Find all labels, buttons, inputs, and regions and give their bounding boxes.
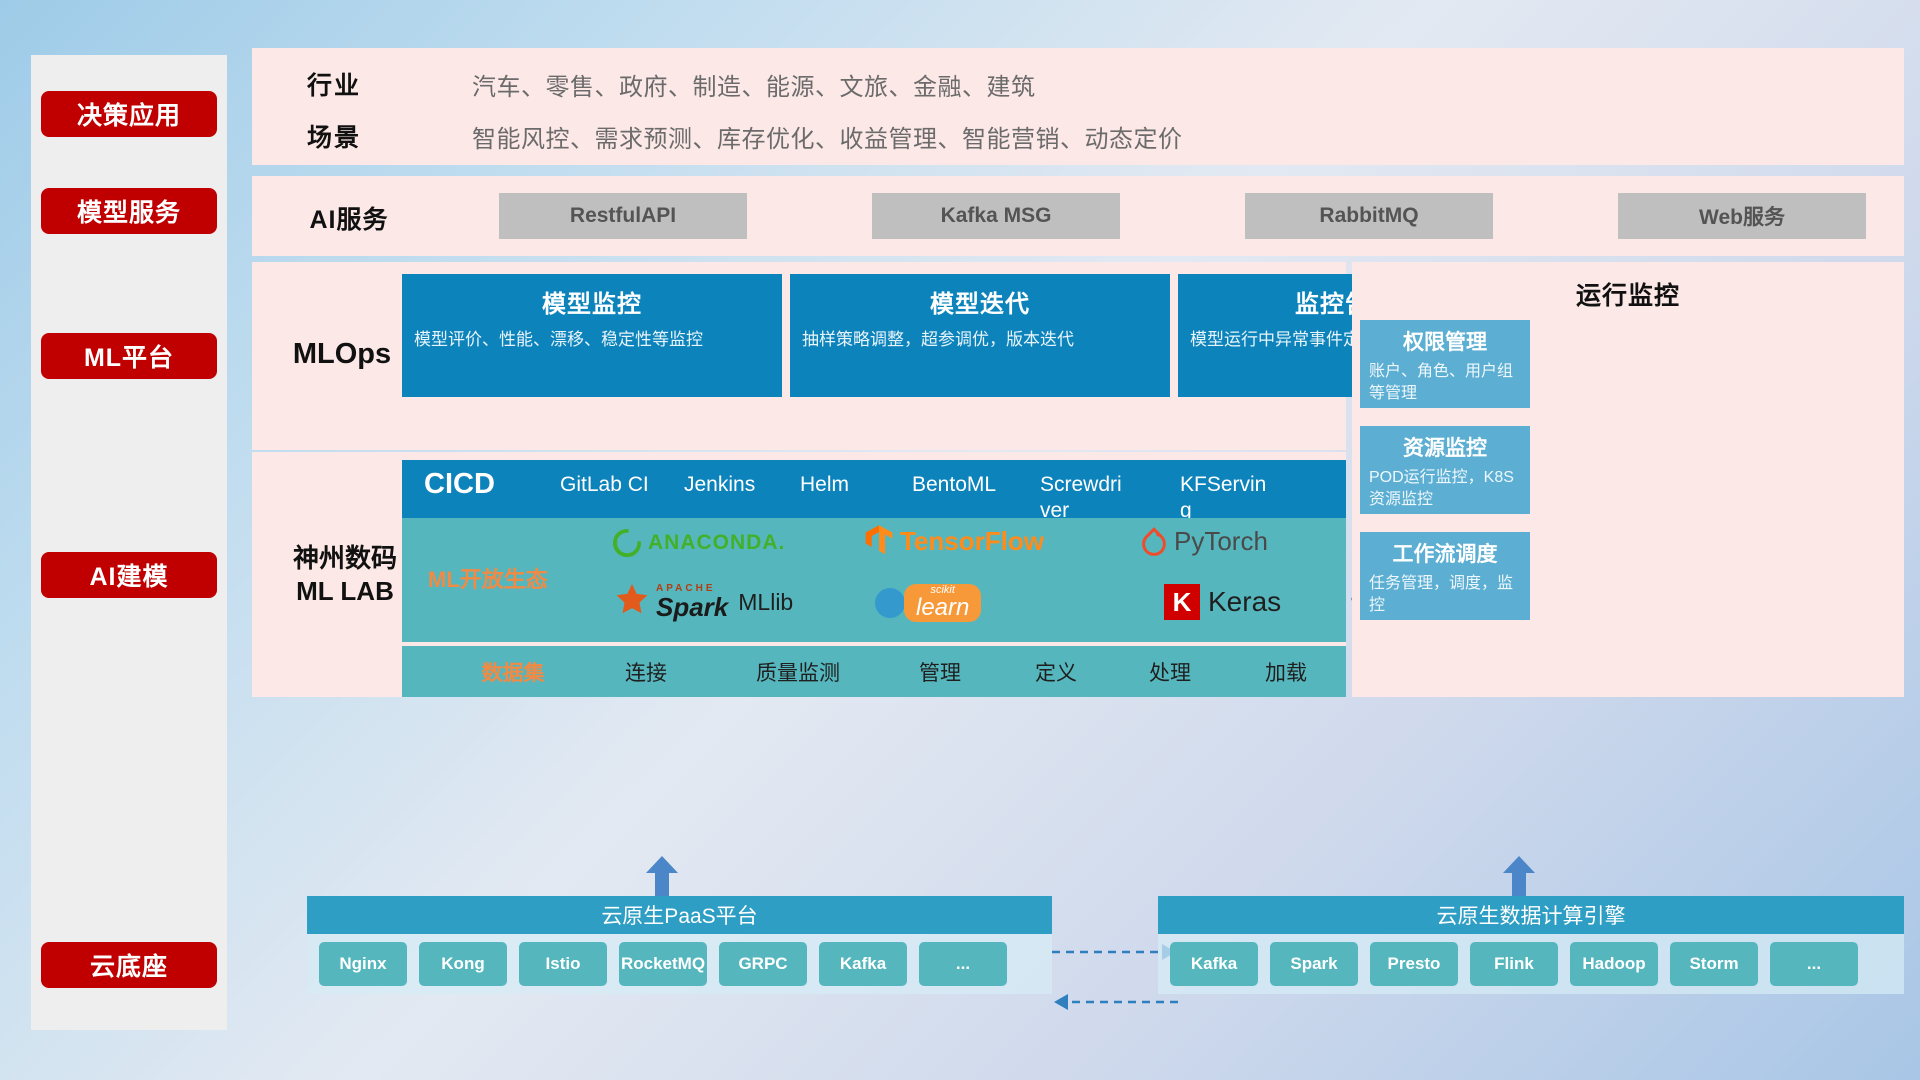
chip-label: Kong — [441, 955, 484, 974]
tensorflow-mark-icon — [864, 524, 894, 558]
card-desc: POD运行监控，K8S资源监控 — [1369, 467, 1521, 510]
chip-label: RocketMQ — [621, 955, 705, 974]
layer-label: 云底座 — [90, 947, 168, 983]
layer-chip-model-service[interactable]: 模型服务 — [41, 188, 217, 234]
cloud-chip-istio[interactable]: Istio — [519, 942, 607, 986]
dataset-item-load[interactable]: 加载 — [1240, 657, 1332, 687]
cloud-chip-more[interactable]: ... — [1770, 942, 1858, 986]
keras-wordmark: Keras — [1208, 586, 1281, 618]
ml-open-ecosystem-band: ML开放生态 ANACONDA. TensorFlow PyTorch — [402, 518, 1346, 642]
cloud-chip-kafka[interactable]: Kafka — [819, 942, 907, 986]
spark-mark-icon — [610, 580, 654, 624]
chip-label: Istio — [546, 955, 581, 974]
cloud-chip-grpc[interactable]: GRPC — [719, 942, 807, 986]
card-desc: 任务管理，调度，监控 — [1369, 573, 1521, 616]
card-desc: 模型评价、性能、漂移、稳定性等监控 — [414, 329, 770, 352]
card-desc: 账户、角色、用户组等管理 — [1369, 361, 1521, 404]
spark-wordmark: Spark — [656, 594, 728, 620]
cicd-item-label: Jenkins — [684, 473, 755, 496]
keras-mark-icon: K — [1164, 584, 1200, 620]
card-title: 资源监控 — [1369, 432, 1521, 462]
cloud-group-paas: 云原生PaaS平台 Nginx Kong Istio RocketMQ GRPC… — [307, 896, 1052, 994]
chip-label: Storm — [1689, 955, 1738, 974]
cicd-label: CICD — [424, 468, 495, 501]
dataset-item-manage[interactable]: 管理 — [894, 657, 986, 687]
cloud-chip-nginx[interactable]: Nginx — [319, 942, 407, 986]
runtime-card-permission-management[interactable]: 权限管理 账户、角色、用户组等管理 — [1360, 320, 1530, 408]
chip-label: Nginx — [339, 955, 386, 974]
up-arrow-data-engine-icon — [1502, 856, 1536, 900]
cicd-item-label: KFServing — [1180, 473, 1266, 518]
cloud-chip-storm[interactable]: Storm — [1670, 942, 1758, 986]
runtime-monitoring-panel: 运行监控 权限管理 账户、角色、用户组等管理 资源监控 POD运行监控，K8S资… — [1352, 262, 1904, 697]
scikit-learn-mark-icon — [872, 585, 908, 621]
cicd-item-kfserving[interactable]: KFServing — [1180, 472, 1272, 518]
layer-label: 模型服务 — [77, 193, 181, 229]
cloud-group-title: 云原生数据计算引擎 — [1158, 896, 1904, 934]
scikit-learn-wordmark: learn — [916, 596, 969, 620]
keras-logo: K Keras — [1164, 584, 1281, 620]
cicd-item-jenkins[interactable]: Jenkins — [684, 472, 776, 498]
dataset-item-connect[interactable]: 连接 — [600, 657, 692, 687]
decision-row-key: 场景 — [274, 118, 394, 154]
mlops-title: MLOps — [262, 338, 422, 371]
cicd-strip: CICD GitLab CI Jenkins Helm BentoML Scre… — [402, 460, 1346, 518]
cicd-item-label: BentoML — [912, 473, 996, 496]
ai-service-chip-web-service[interactable]: Web服务 — [1618, 193, 1866, 239]
anaconda-wordmark: ANACONDA. — [648, 531, 785, 555]
pytorch-mark-icon — [1140, 527, 1168, 557]
cloud-chip-kong[interactable]: Kong — [419, 942, 507, 986]
chip-label: Spark — [1290, 955, 1337, 974]
cloud-chip-hadoop[interactable]: Hadoop — [1570, 942, 1658, 986]
ai-service-title: AI服务 — [274, 200, 424, 236]
card-title: 工作流调度 — [1369, 538, 1521, 568]
mlops-card-model-monitoring[interactable]: 模型监控 模型评价、性能、漂移、稳定性等监控 — [402, 274, 782, 397]
chip-label: RestfulAPI — [570, 204, 676, 228]
cicd-item-label: GitLab CI — [560, 473, 649, 496]
up-arrow-paas-icon — [645, 856, 679, 900]
dataset-item-quality[interactable]: 质量监测 — [732, 657, 864, 687]
cicd-item-screwdriver[interactable]: Screwdriver — [1040, 472, 1132, 518]
mllib-wordmark: MLlib — [738, 589, 793, 616]
ai-service-chip-kafka-msg[interactable]: Kafka MSG — [872, 193, 1120, 239]
chip-label: Web服务 — [1699, 201, 1785, 231]
chip-label: GRPC — [738, 955, 787, 974]
cicd-item-helm[interactable]: Helm — [800, 472, 892, 498]
cicd-item-label: Helm — [800, 473, 849, 496]
chip-label: Hadoop — [1582, 955, 1645, 974]
layer-chip-cloud-base[interactable]: 云底座 — [41, 942, 217, 988]
decision-application-panel: 行业 汽车、零售、政府、制造、能源、文旅、金融、建筑 场景 智能风控、需求预测、… — [252, 48, 1904, 165]
layer-label: 决策应用 — [77, 96, 181, 132]
dataset-item-process[interactable]: 处理 — [1124, 657, 1216, 687]
spark-mllib-logo: APACHE Spark MLlib — [610, 580, 793, 624]
ai-service-chip-restfulapi[interactable]: RestfulAPI — [499, 193, 747, 239]
scikit-learn-logo: scikit learn — [872, 584, 981, 622]
decision-row-scenario: 场景 智能风控、需求预测、库存优化、收益管理、智能营销、动态定价 — [274, 118, 1183, 154]
cloud-group-title: 云原生PaaS平台 — [307, 896, 1052, 934]
layer-chip-ml-platform[interactable]: ML平台 — [41, 333, 217, 379]
decision-row-industry: 行业 汽车、零售、政府、制造、能源、文旅、金融、建筑 — [274, 66, 1036, 102]
dataset-label: 数据集 — [458, 657, 568, 687]
layer-label: ML平台 — [84, 338, 174, 374]
mlops-panel: MLOps 模型监控 模型评价、性能、漂移、稳定性等监控 模型迭代 抽样策略调整… — [252, 262, 1346, 450]
chip-label: ... — [1807, 955, 1821, 974]
layer-chip-decision-app[interactable]: 决策应用 — [41, 91, 217, 137]
runtime-card-resource-monitoring[interactable]: 资源监控 POD运行监控，K8S资源监控 — [1360, 426, 1530, 514]
pytorch-wordmark: PyTorch — [1174, 526, 1268, 557]
cloud-chip-presto[interactable]: Presto — [1370, 942, 1458, 986]
anaconda-logo: ANACONDA. — [612, 528, 785, 558]
anaconda-mark-icon — [612, 528, 642, 558]
chip-label: Kafka — [840, 955, 886, 974]
ai-service-chip-rabbitmq[interactable]: RabbitMQ — [1245, 193, 1493, 239]
chip-label: ... — [956, 955, 970, 974]
ml-open-ecosystem-label: ML开放生态 — [428, 562, 548, 594]
chip-label: Flink — [1494, 955, 1534, 974]
decision-row-value: 智能风控、需求预测、库存优化、收益管理、智能营销、动态定价 — [472, 119, 1183, 154]
cicd-item-gitlab-ci[interactable]: GitLab CI — [560, 472, 652, 498]
layer-chip-ai-modeling[interactable]: AI建模 — [41, 552, 217, 598]
dataset-strip: 数据集 连接 质量监测 管理 定义 处理 加载 — [402, 646, 1346, 697]
dataset-item-define[interactable]: 定义 — [1010, 657, 1102, 687]
mlops-card-model-iteration[interactable]: 模型迭代 抽样策略调整，超参调优，版本迭代 — [790, 274, 1170, 397]
ai-service-panel: AI服务 RestfulAPI Kafka MSG RabbitMQ Web服务 — [252, 176, 1904, 256]
cloud-group-data-engine: 云原生数据计算引擎 Kafka Spark Presto Flink Hadoo… — [1158, 896, 1904, 994]
cicd-item-label: Screwdriver — [1040, 473, 1122, 518]
keras-mark-letter: K — [1173, 587, 1192, 618]
chip-label: Kafka MSG — [941, 204, 1052, 228]
cloud-group-body: Kafka Spark Presto Flink Hadoop Storm ..… — [1158, 934, 1904, 994]
cloud-chip-flink[interactable]: Flink — [1470, 942, 1558, 986]
runtime-monitoring-title: 运行监控 — [1352, 276, 1904, 312]
cicd-item-bentoml[interactable]: BentoML — [912, 472, 1004, 498]
card-title: 模型监控 — [414, 284, 770, 319]
decision-row-value: 汽车、零售、政府、制造、能源、文旅、金融、建筑 — [472, 67, 1036, 102]
tensorflow-wordmark: TensorFlow — [900, 526, 1044, 557]
card-desc: 抽样策略调整，超参调优，版本迭代 — [802, 329, 1158, 352]
chip-label: Presto — [1388, 955, 1441, 974]
cloud-chip-more[interactable]: ... — [919, 942, 1007, 986]
pytorch-logo: PyTorch — [1140, 526, 1268, 557]
cloud-chip-spark[interactable]: Spark — [1270, 942, 1358, 986]
cloud-chip-kafka[interactable]: Kafka — [1170, 942, 1258, 986]
cloud-chip-rocketmq[interactable]: RocketMQ — [619, 942, 707, 986]
cloud-group-body: Nginx Kong Istio RocketMQ GRPC Kafka ... — [307, 934, 1052, 994]
chip-label: Kafka — [1191, 955, 1237, 974]
decision-row-key: 行业 — [274, 66, 394, 102]
layer-label: AI建模 — [89, 557, 168, 593]
card-title: 权限管理 — [1369, 326, 1521, 356]
runtime-card-workflow-scheduling[interactable]: 工作流调度 任务管理，调度，监控 — [1360, 532, 1530, 620]
chip-label: RabbitMQ — [1319, 204, 1418, 228]
architecture-diagram: 决策应用 模型服务 ML平台 AI建模 云底座 行业 汽车、零售、政府、制造、能… — [0, 0, 1920, 1080]
tensorflow-logo: TensorFlow — [864, 524, 1044, 558]
card-title: 模型迭代 — [802, 284, 1158, 319]
